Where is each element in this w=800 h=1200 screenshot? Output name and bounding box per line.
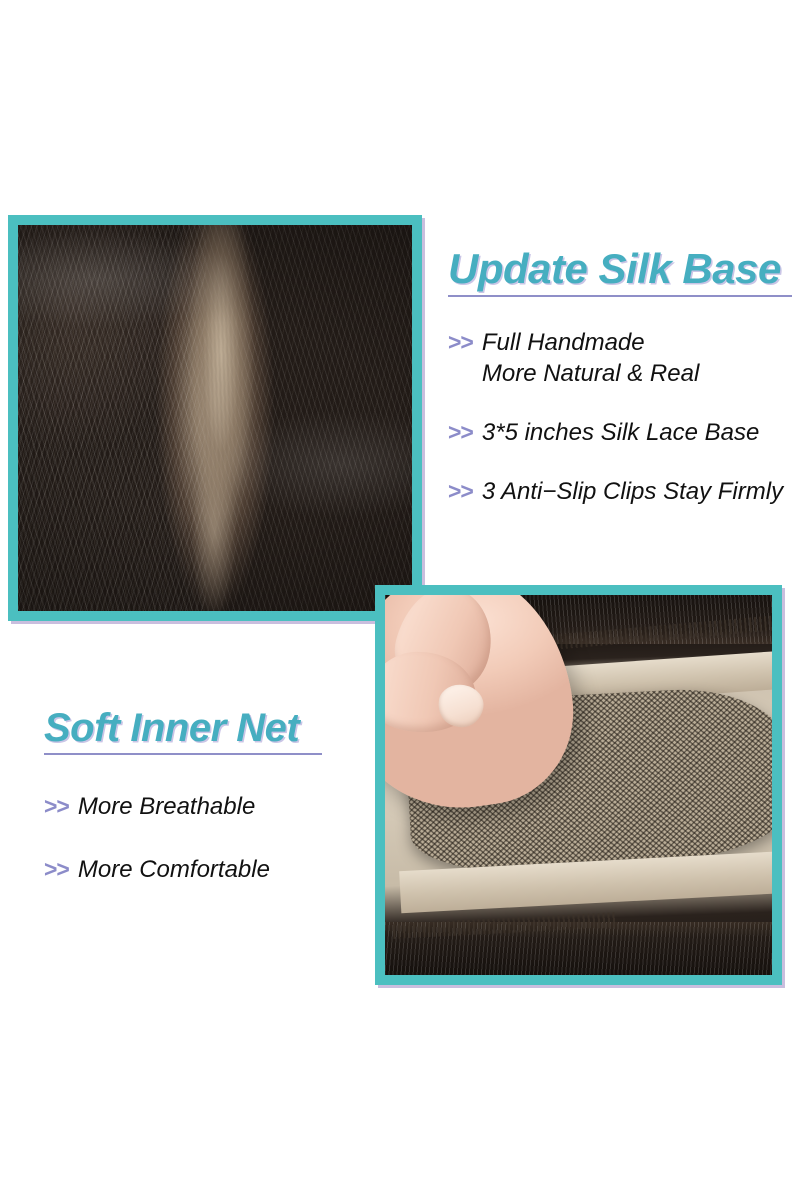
section-silk-base-text: Update Silk Base >> Full Handmade More N… — [448, 246, 792, 507]
photo-inner-net — [375, 585, 782, 985]
feature-text: 3 Anti−Slip Clips Stay Firmly — [482, 476, 783, 507]
chevron-right-icon: >> — [44, 854, 69, 884]
chevron-right-icon: >> — [448, 327, 473, 357]
feature-item: >> More Comfortable — [44, 854, 354, 885]
feature-text: Full Handmade More Natural & Real — [482, 327, 699, 389]
photo-silk-base-image — [18, 225, 412, 611]
feature-list-inner-net: >> More Breathable >> More Comfortable — [44, 791, 354, 885]
feature-text: More Breathable — [78, 791, 255, 822]
feature-item: >> 3 Anti−Slip Clips Stay Firmly — [448, 476, 792, 507]
title-underline-silk-base — [448, 295, 792, 297]
section-title-silk-base: Update Silk Base — [448, 246, 792, 292]
chevron-right-icon: >> — [44, 791, 69, 821]
feature-item: >> 3*5 inches Silk Lace Base — [448, 417, 792, 448]
hair-sheen-overlay — [18, 225, 412, 611]
chevron-right-icon: >> — [448, 476, 473, 506]
photo-silk-base — [8, 215, 422, 621]
feature-text: 3*5 inches Silk Lace Base — [482, 417, 760, 448]
section-inner-net-text: Soft Inner Net >> More Breathable >> Mor… — [44, 706, 354, 885]
feature-text: More Comfortable — [78, 854, 270, 885]
feature-list-silk-base: >> Full Handmade More Natural & Real >> … — [448, 327, 792, 507]
section-title-inner-net: Soft Inner Net — [44, 706, 354, 750]
feature-item: >> More Breathable — [44, 791, 354, 822]
chevron-right-icon: >> — [448, 417, 473, 447]
photo-inner-net-image — [385, 595, 772, 975]
infographic-canvas: Update Silk Base >> Full Handmade More N… — [0, 0, 800, 1200]
title-underline-inner-net — [44, 753, 322, 755]
feature-item: >> Full Handmade More Natural & Real — [448, 327, 792, 389]
